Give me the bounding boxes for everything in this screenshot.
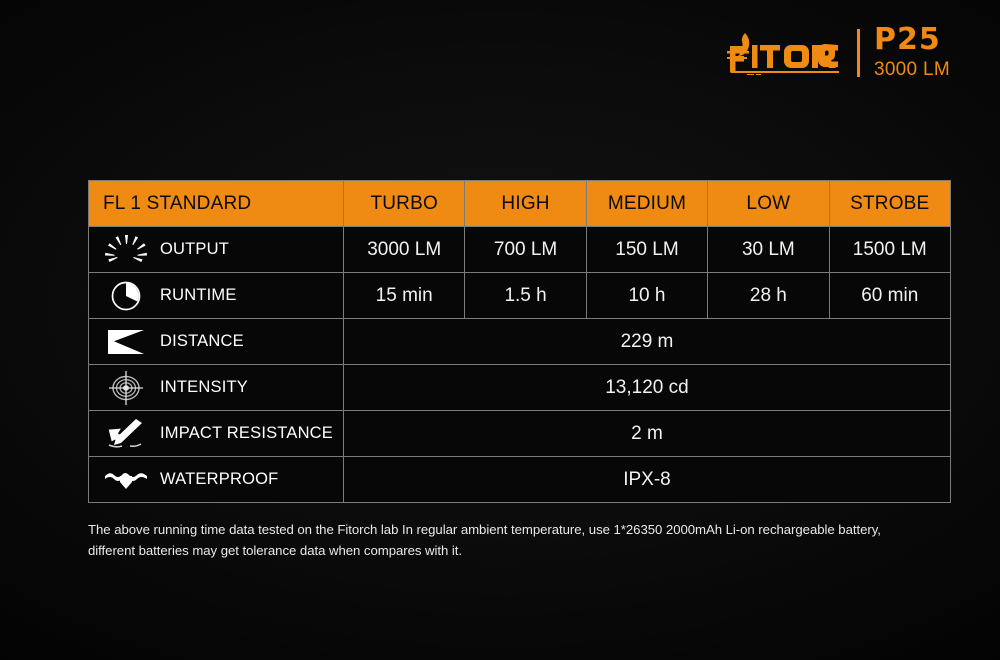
row-label-runtime: RUNTIME (89, 273, 344, 319)
cell-runtime-strobe: 60 min (829, 273, 950, 319)
header-mode-high: HIGH (465, 181, 586, 227)
cell-runtime-turbo: 15 min (344, 273, 465, 319)
header-mode-turbo: TURBO (344, 181, 465, 227)
brand-divider (857, 29, 860, 77)
crosshair-intensity-icon (103, 371, 149, 405)
impact-arrow-icon (103, 417, 149, 451)
table-header: FL 1 STANDARD TURBO HIGH MEDIUM LOW STRO… (89, 181, 951, 227)
table-body: OUTPUT 3000 LM 700 LM 150 LM 30 LM 1500 … (89, 227, 951, 503)
table-row: WATERPROOF IPX-8 (89, 457, 951, 503)
row-label-text: IMPACT RESISTANCE (160, 424, 333, 443)
water-waves-icon (103, 463, 149, 497)
header-fl1-standard: FL 1 STANDARD (89, 181, 344, 227)
cell-intensity-value: 13,120 cd (344, 365, 951, 411)
table-row: DISTANCE 229 m (89, 319, 951, 365)
row-label-text: DISTANCE (160, 332, 244, 351)
header-mode-low: LOW (708, 181, 829, 227)
header-row: FL 1 STANDARD TURBO HIGH MEDIUM LOW STRO… (89, 181, 951, 227)
cell-output-low: 30 LM (708, 227, 829, 273)
brand-model-block: P25 3000 LM (874, 25, 950, 81)
model-lumens: 3000 LM (874, 59, 950, 81)
fitorch-logo (727, 31, 843, 75)
cell-output-turbo: 3000 LM (344, 227, 465, 273)
cell-runtime-medium: 10 h (586, 273, 707, 319)
cell-runtime-low: 28 h (708, 273, 829, 319)
clock-runtime-icon (103, 279, 149, 313)
brand-header: P25 3000 LM (727, 26, 950, 80)
table-row: OUTPUT 3000 LM 700 LM 150 LM 30 LM 1500 … (89, 227, 951, 273)
row-label-text: WATERPROOF (160, 470, 278, 489)
cell-output-strobe: 1500 LM (829, 227, 950, 273)
table-row: RUNTIME 15 min 1.5 h 10 h 28 h 60 min (89, 273, 951, 319)
row-label-impact-resistance: IMPACT RESISTANCE (89, 411, 344, 457)
specification-table: FL 1 STANDARD TURBO HIGH MEDIUM LOW STRO… (88, 180, 951, 503)
row-label-text: RUNTIME (160, 286, 237, 305)
model-name: P25 (874, 25, 941, 55)
spec-sheet-page: P25 3000 LM FL 1 STANDARD TURBO HIGH MED… (0, 0, 1000, 660)
footnote-line-1: The above running time data tested on th… (88, 519, 954, 540)
cell-output-high: 700 LM (465, 227, 586, 273)
beam-distance-icon (103, 325, 149, 359)
row-label-text: OUTPUT (160, 240, 229, 259)
row-label-output: OUTPUT (89, 227, 344, 273)
row-label-waterproof: WATERPROOF (89, 457, 344, 503)
row-label-distance: DISTANCE (89, 319, 344, 365)
cell-output-medium: 150 LM (586, 227, 707, 273)
header-mode-strobe: STROBE (829, 181, 950, 227)
header-mode-medium: MEDIUM (586, 181, 707, 227)
row-label-text: INTENSITY (160, 378, 248, 397)
table-row: INTENSITY 13,120 cd (89, 365, 951, 411)
footnote-line-2: different batteries may get tolerance da… (88, 540, 954, 561)
cell-distance-value: 229 m (344, 319, 951, 365)
cell-runtime-high: 1.5 h (465, 273, 586, 319)
footnote: The above running time data tested on th… (88, 519, 954, 562)
row-label-intensity: INTENSITY (89, 365, 344, 411)
table-row: IMPACT RESISTANCE 2 m (89, 411, 951, 457)
cell-waterproof-value: IPX-8 (344, 457, 951, 503)
fitorch-logo-mark (727, 31, 843, 75)
cell-impact-value: 2 m (344, 411, 951, 457)
sunburst-output-icon (103, 233, 149, 267)
